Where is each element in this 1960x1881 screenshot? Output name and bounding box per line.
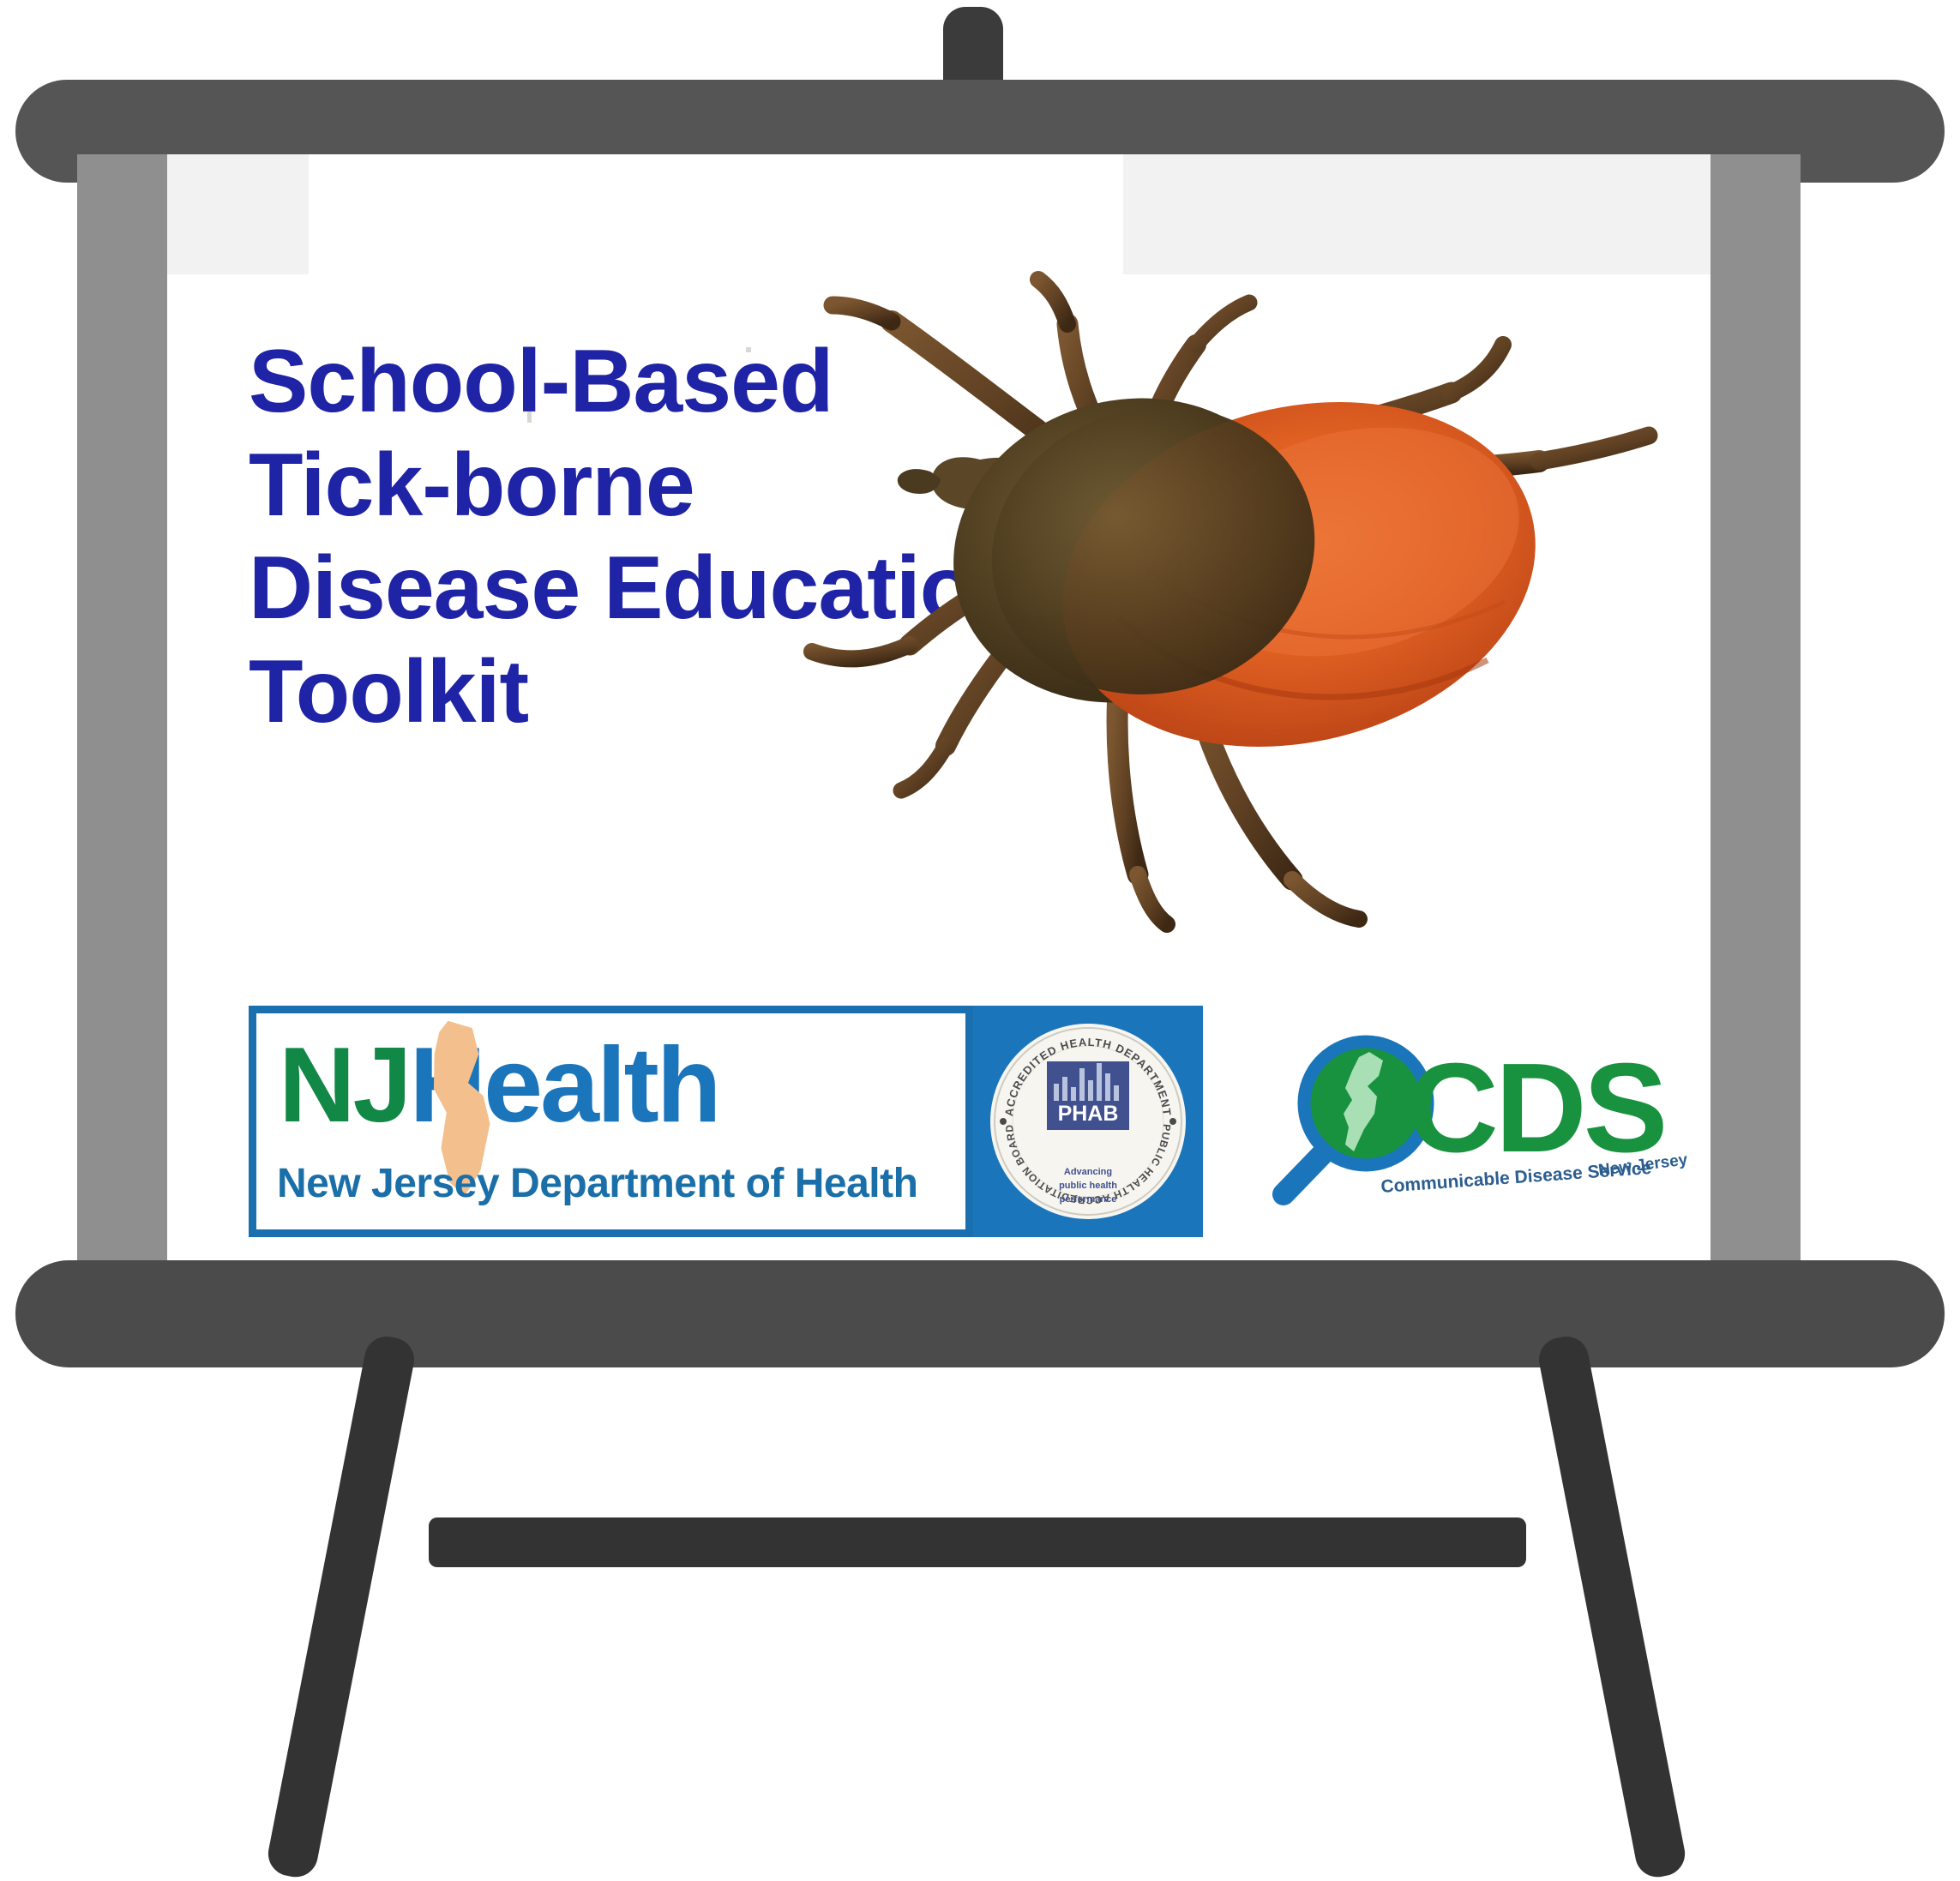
- easel-bottom-bar: [15, 1260, 1945, 1367]
- phab-acronym: PHAB: [1047, 1102, 1129, 1127]
- phab-logo-square: PHAB: [1047, 1061, 1129, 1130]
- tick-photo: [750, 214, 1702, 934]
- phab-accreditation-block: ACCREDITED HEALTH DEPARTMENT PUBLIC HEAL…: [973, 1006, 1203, 1237]
- easel-crossbar: [429, 1517, 1526, 1567]
- easel-leg-left: [264, 1332, 418, 1880]
- slide-canvas: School-Based Tick-borne Disease Educatio…: [167, 154, 1710, 1277]
- cds-logo: CDS New Jersey Communicable Disease Serv…: [1239, 1007, 1702, 1237]
- nj-health-nj-text: NJ: [279, 1026, 410, 1145]
- nj-health-logo: NJHealth New Jersey Department of Health: [249, 1006, 973, 1237]
- nj-health-wordmark: NJHealth: [279, 1032, 718, 1139]
- nj-health-subtitle: New Jersey Department of Health: [277, 1160, 917, 1207]
- phab-tagline-line-3: performance: [990, 1193, 1186, 1207]
- easel-top-knob: [943, 7, 1003, 84]
- phab-seal: ACCREDITED HEALTH DEPARTMENT PUBLIC HEAL…: [990, 1024, 1186, 1219]
- easel-leg-right: [1536, 1332, 1689, 1880]
- phab-tagline-line-2: public health: [990, 1180, 1186, 1193]
- phab-tagline: Advancing public health performance: [990, 1166, 1186, 1207]
- easel-left-rail: [77, 154, 167, 1277]
- easel-right-rail: [1710, 154, 1801, 1277]
- logo-band: NJHealth New Jersey Department of Health: [167, 999, 1710, 1247]
- easel-presentation-board: School-Based Tick-borne Disease Educatio…: [0, 0, 1960, 1867]
- phab-tagline-line-1: Advancing: [990, 1166, 1186, 1180]
